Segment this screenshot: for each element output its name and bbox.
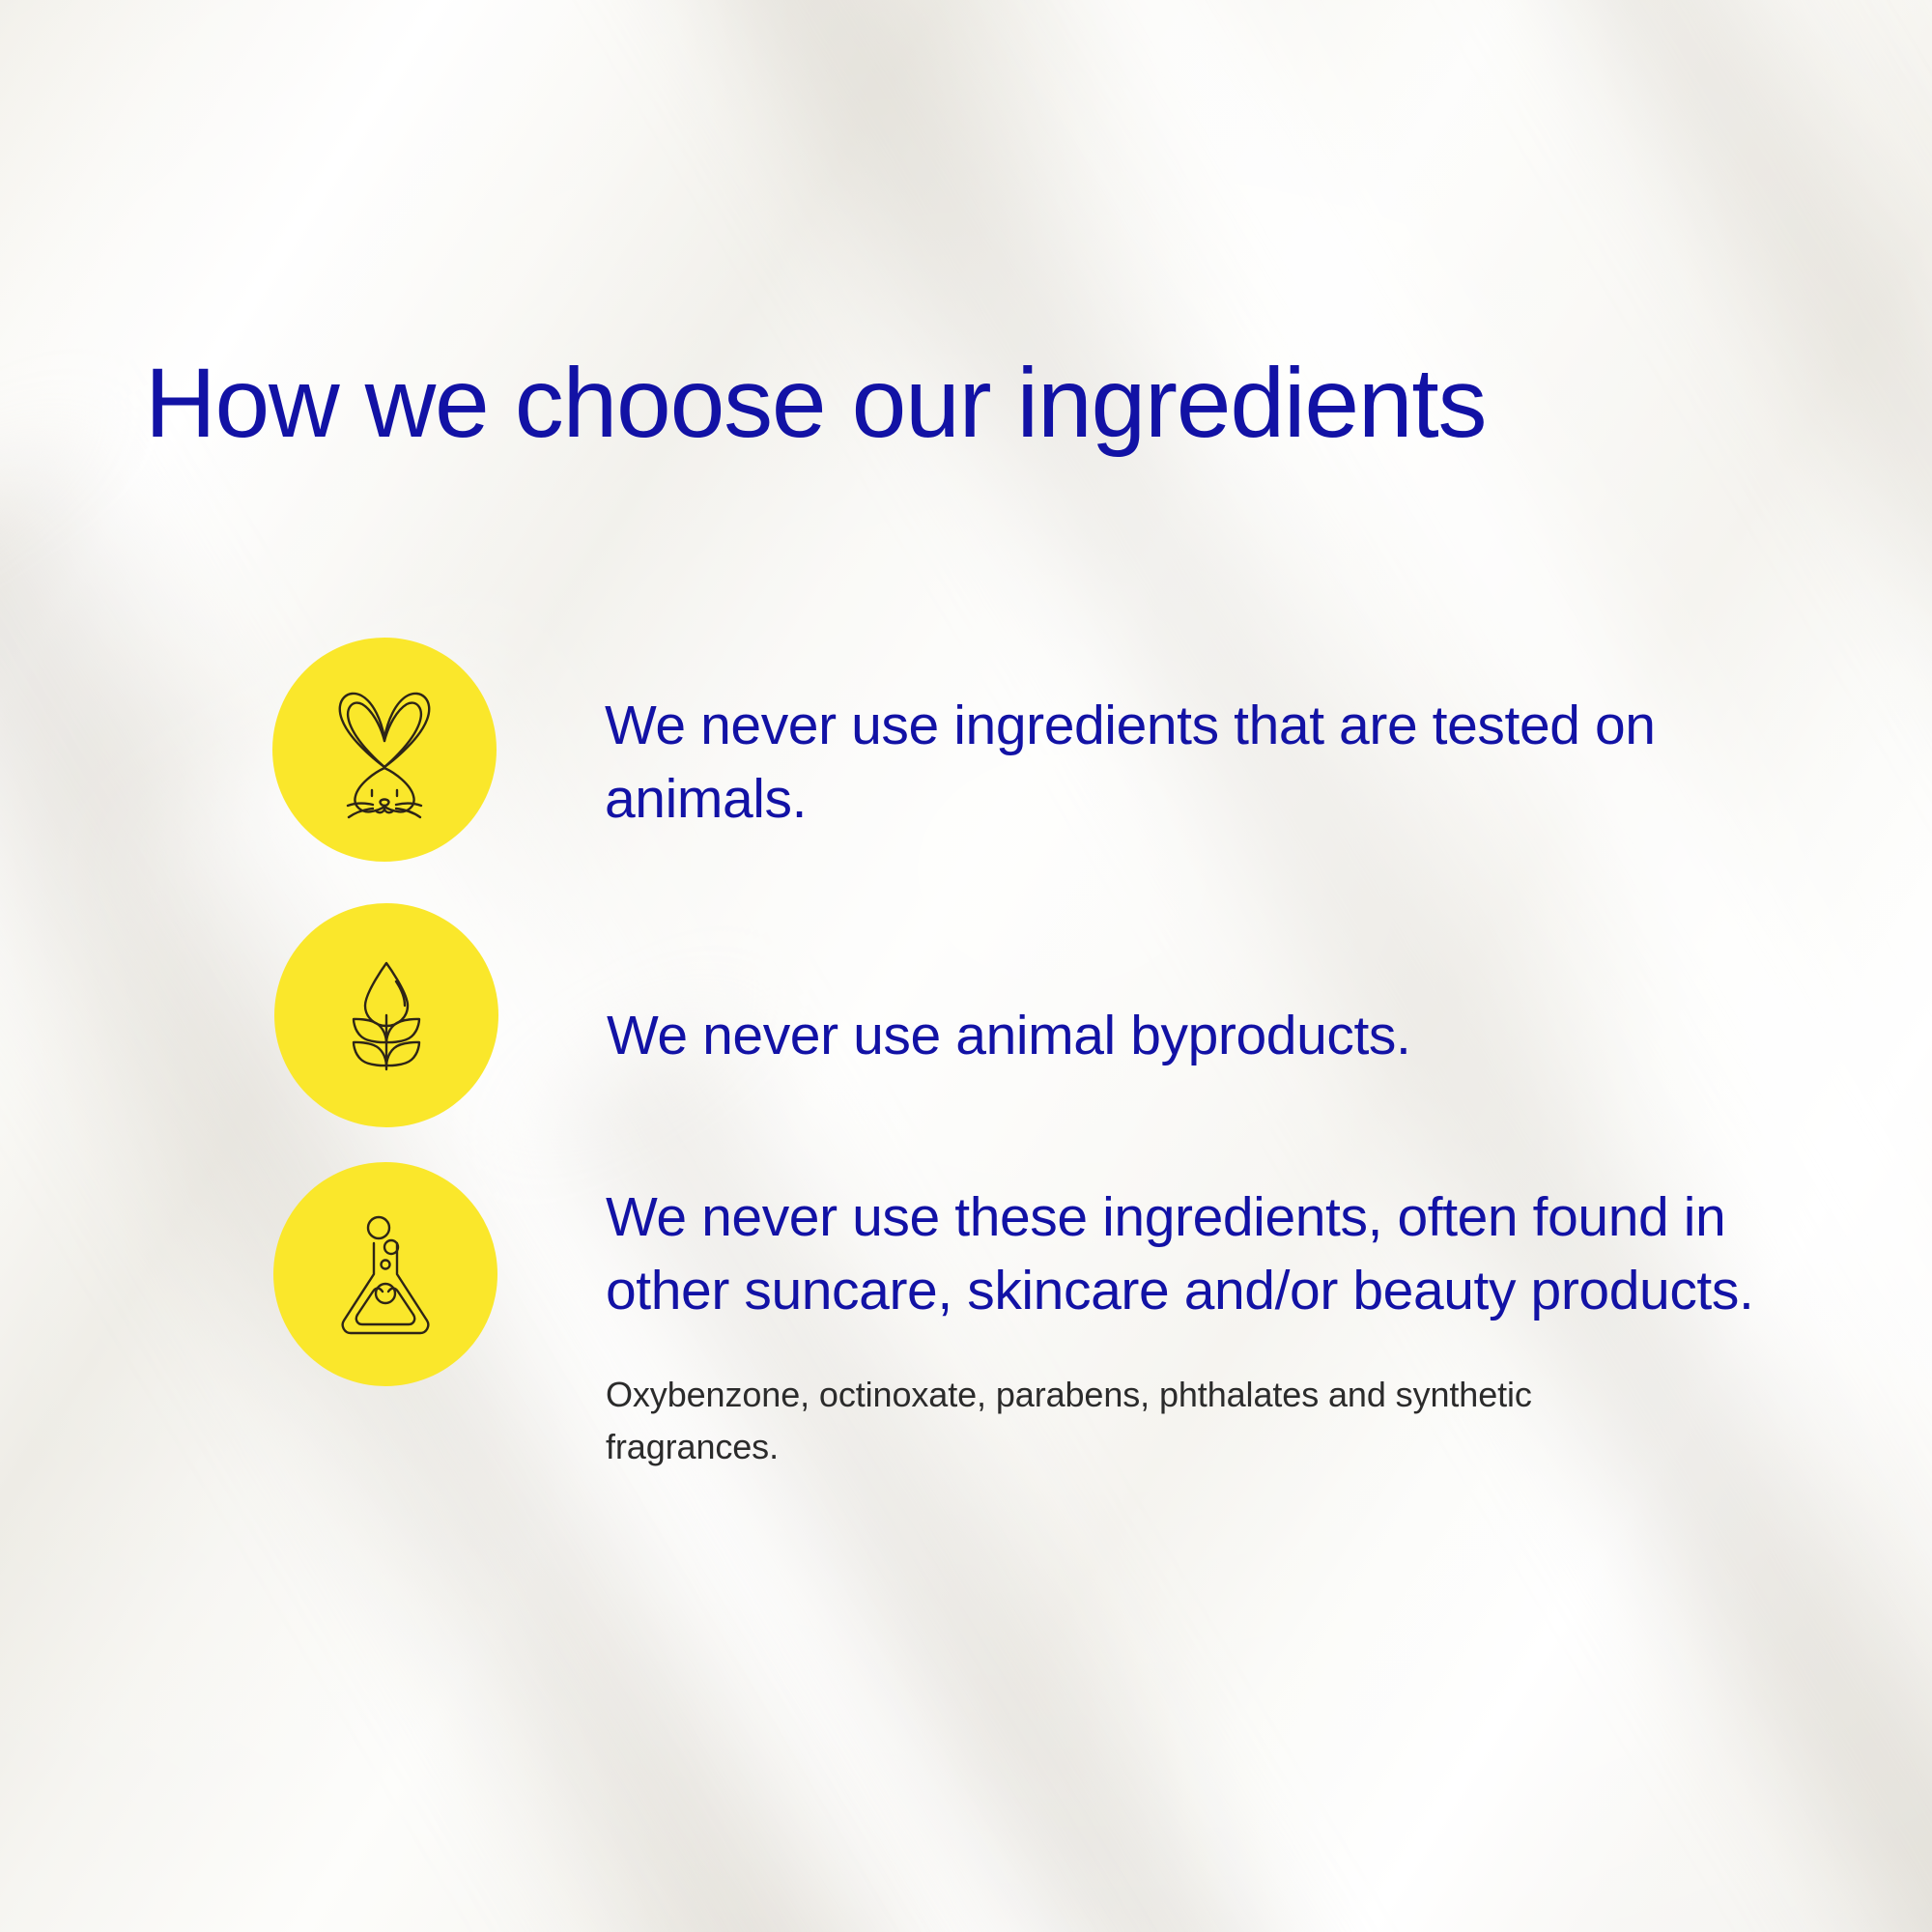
list-item-text: We never use animal byproducts. (607, 903, 1410, 1073)
list-item-text: We never use these ingredients, often fo… (606, 1162, 1775, 1473)
flask-bubbles-icon (273, 1162, 497, 1386)
list-item-statement: We never use ingredients that are tested… (605, 690, 1774, 837)
bunny-heart-ears-icon (272, 638, 497, 862)
list-item-text: We never use ingredients that are tested… (605, 638, 1774, 837)
page-title: How we choose our ingredients (145, 350, 1486, 456)
plant-droplet-icon (274, 903, 498, 1127)
list-item-note: Oxybenzone, octinoxate, parabens, phthal… (606, 1369, 1620, 1473)
list-item-statement: We never use animal byproducts. (607, 1000, 1410, 1073)
poster-content: How we choose our ingredients (0, 0, 1932, 1932)
list-item: We never use ingredients that are tested… (272, 638, 1774, 862)
list-item: We never use animal byproducts. (274, 903, 1410, 1127)
poster-canvas: How we choose our ingredients (0, 0, 1932, 1932)
list-item-statement: We never use these ingredients, often fo… (606, 1181, 1775, 1328)
list-item: We never use these ingredients, often fo… (273, 1162, 1775, 1473)
